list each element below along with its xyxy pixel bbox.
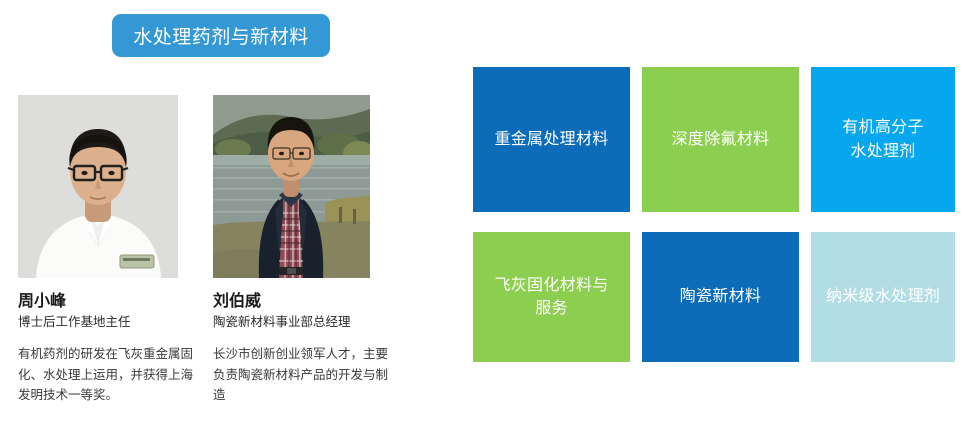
portrait-illustration	[18, 95, 178, 278]
person-card: 周小峰 博士后工作基地主任 有机药剂的研发在飞灰重金属固化、水处理上运用，并获得…	[18, 95, 204, 405]
person-role: 陶瓷新材料事业部总经理	[213, 314, 399, 330]
product-tile-nano-water-treatment-agent[interactable]: 纳米级水处理剂	[811, 232, 955, 362]
product-tile-label: 纳米级水处理剂	[826, 285, 940, 308]
product-tile-label: 陶瓷新材料	[680, 285, 762, 308]
person-description: 有机药剂的研发在飞灰重金属固化、水处理上运用，并获得上海发明技术一等奖。	[18, 344, 198, 405]
product-tile-heavy-metal-materials[interactable]: 重金属处理材料	[473, 67, 630, 212]
person-card: 刘伯威 陶瓷新材料事业部总经理 长沙市创新创业领军人才，主要负责陶瓷新材料产品的…	[213, 95, 399, 405]
product-tile-grid: 重金属处理材料 深度除氟材料 有机高分子 水处理剂 飞灰固化材料与 服务 陶瓷新…	[473, 67, 943, 362]
product-tile-label: 深度除氟材料	[672, 128, 770, 151]
product-tile-label: 飞灰固化材料与 服务	[494, 274, 608, 320]
section-title-text: 水处理药剂与新材料	[133, 22, 309, 49]
section-title-badge: 水处理药剂与新材料	[112, 14, 330, 57]
product-tile-organic-polymer-water-agent[interactable]: 有机高分子 水处理剂	[811, 67, 955, 212]
slide-canvas: 水处理药剂与新材料	[0, 0, 964, 436]
product-tile-label: 重金属处理材料	[494, 128, 608, 151]
person-name: 刘伯威	[213, 292, 399, 312]
person-description: 长沙市创新创业领军人才，主要负责陶瓷新材料产品的开发与制造	[213, 344, 399, 405]
product-tile-label: 有机高分子 水处理剂	[842, 116, 924, 162]
portrait-photo-liu-bowei	[213, 95, 370, 278]
product-tile-fly-ash-solidification[interactable]: 飞灰固化材料与 服务	[473, 232, 630, 362]
product-tile-ceramic-new-materials[interactable]: 陶瓷新材料	[642, 232, 799, 362]
portrait-photo-zhou-xiaofeng	[18, 95, 178, 278]
person-name: 周小峰	[18, 292, 204, 312]
person-role: 博士后工作基地主任	[18, 314, 204, 330]
portrait-illustration	[213, 95, 370, 278]
product-tile-deep-defluorination-materials[interactable]: 深度除氟材料	[642, 67, 799, 212]
